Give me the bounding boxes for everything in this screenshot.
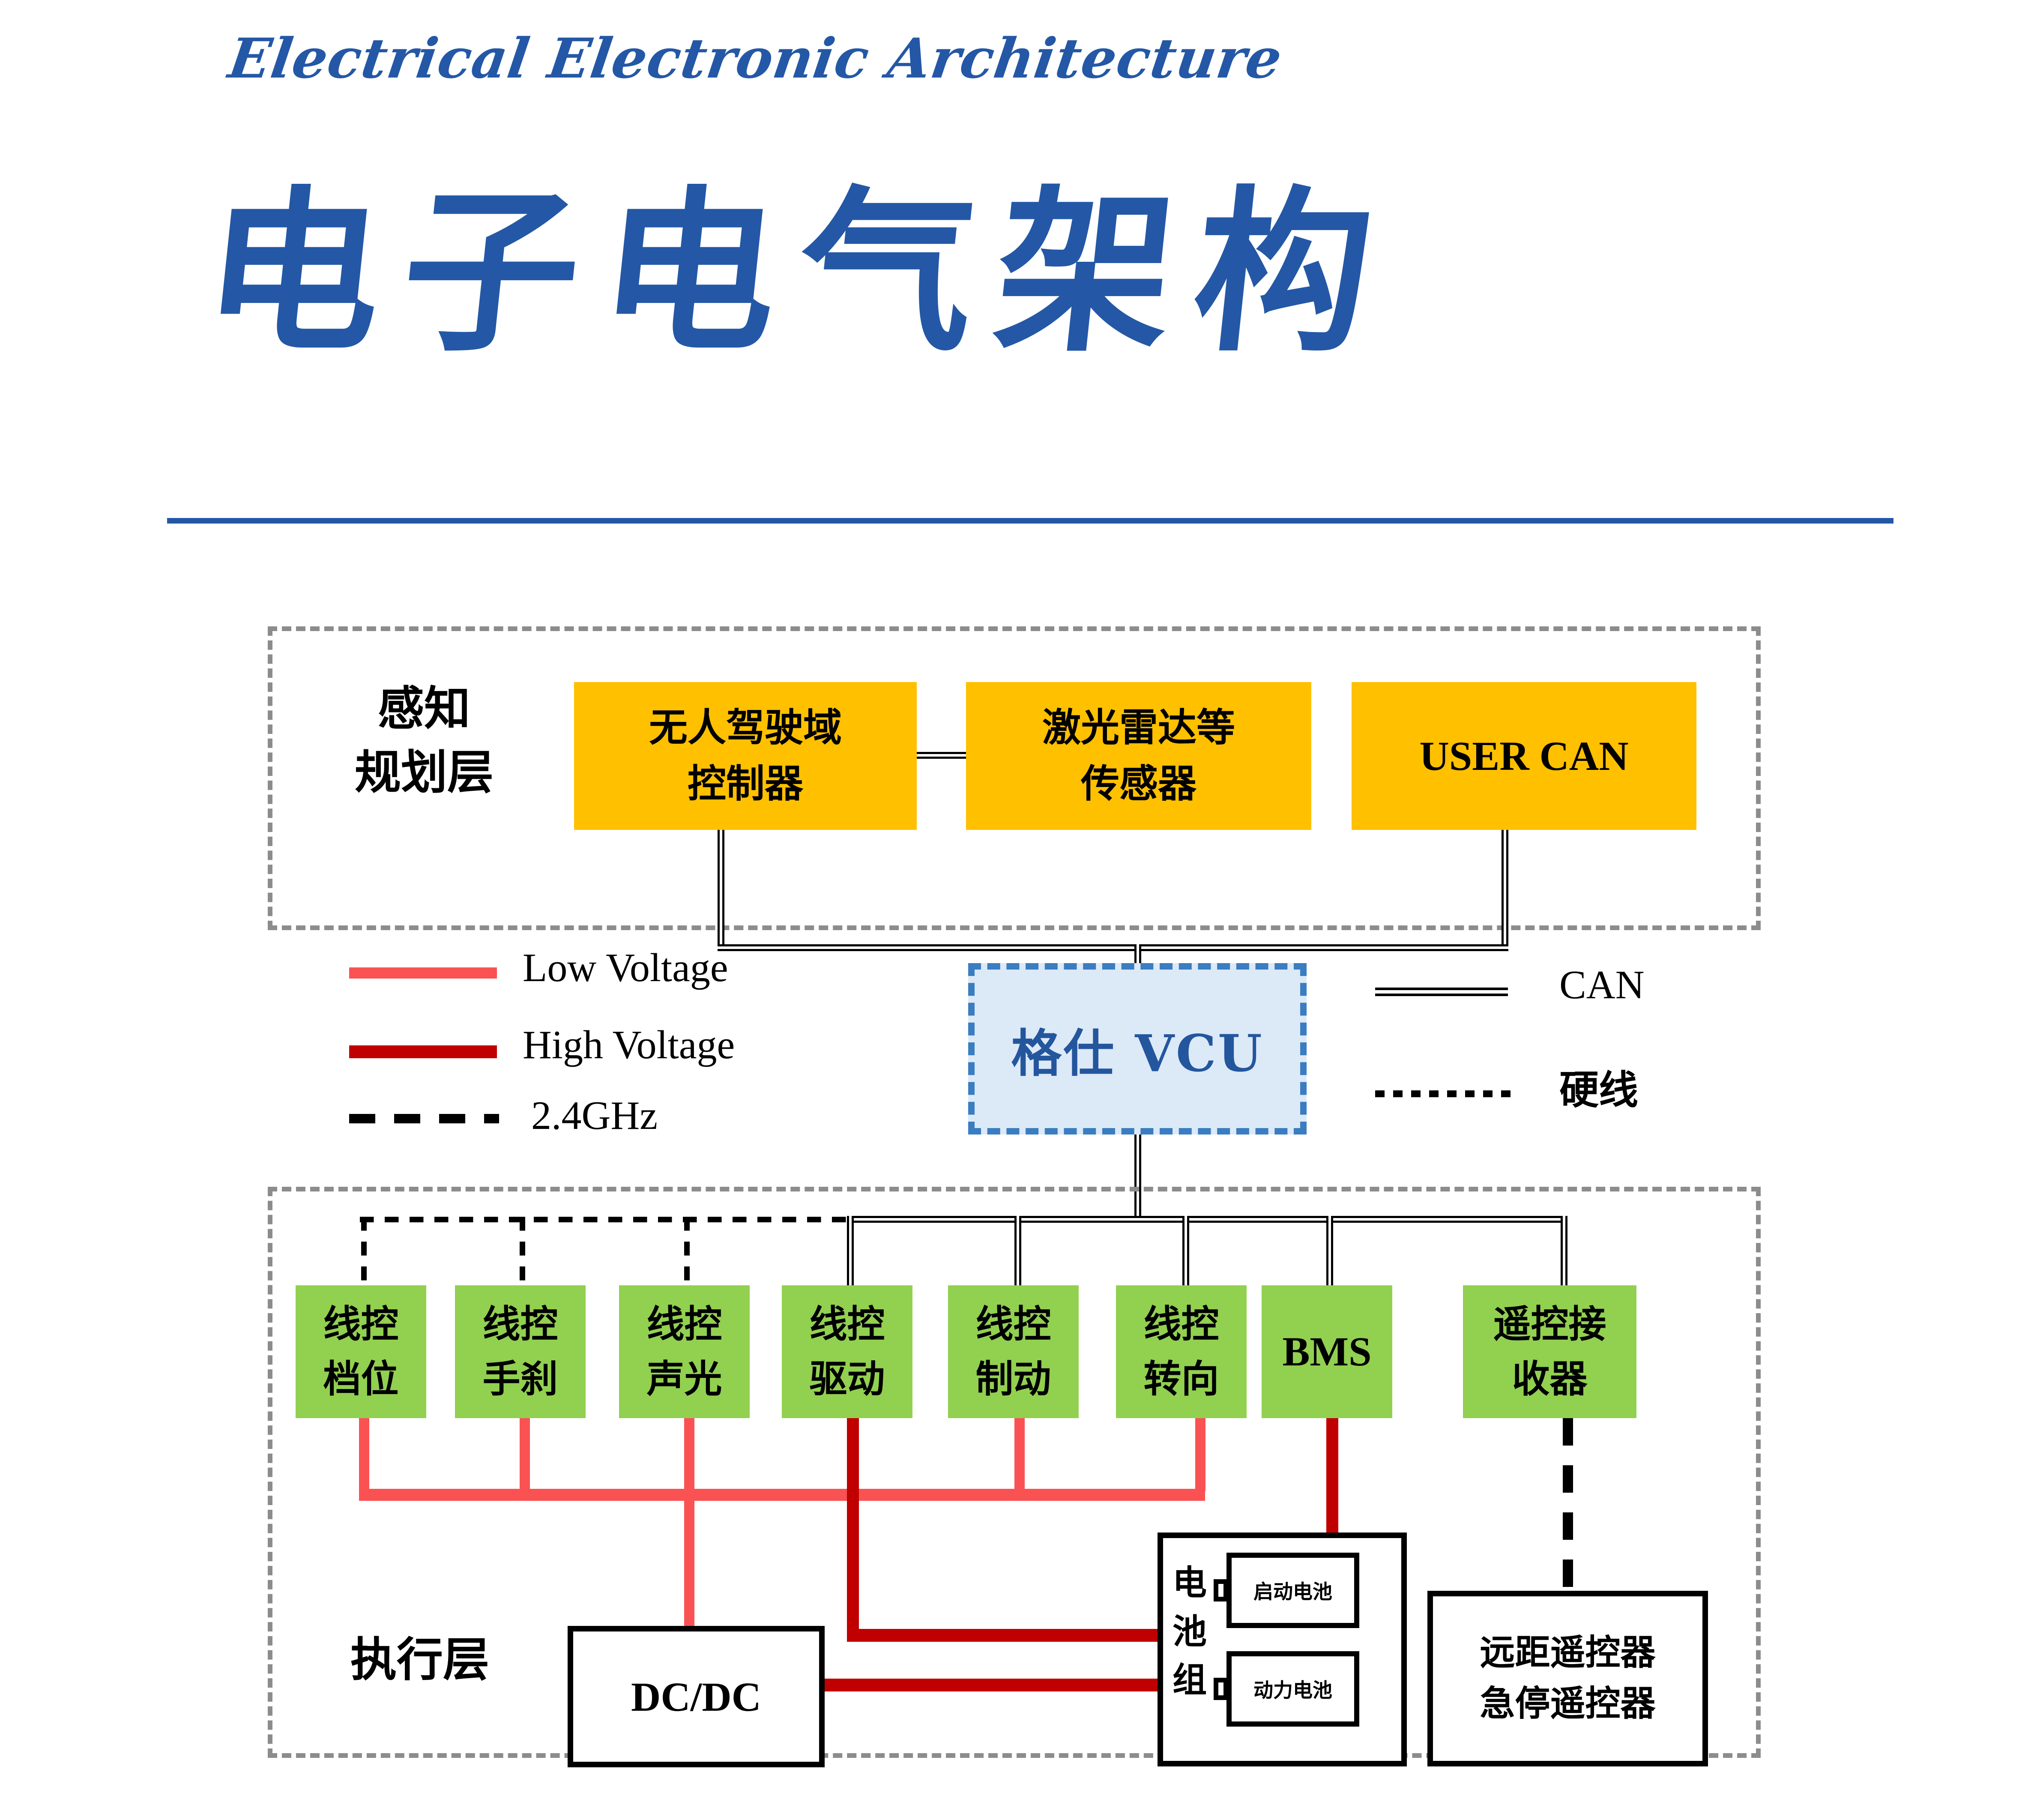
wire-control-gear-line1: 线控 (323, 1297, 398, 1352)
wire-control-gear-line2: 档位 (323, 1352, 398, 1407)
box-dcdc[interactable]: DC/DC (568, 1626, 825, 1767)
box-remote-receiver[interactable]: 遥控接 收器 (1463, 1285, 1636, 1418)
page-title-chinese: 电子电气架构 (196, 184, 1402, 360)
box-starter-battery[interactable]: 启动电池 (1226, 1553, 1359, 1628)
hardwire-drop-sound-light (684, 1217, 690, 1285)
lidar-sensors-line2: 传感器 (1042, 756, 1235, 812)
wire-control-handbrake-line1: 线控 (482, 1297, 558, 1352)
can-link-adas-to-lidar (917, 752, 966, 759)
legend-swatch-hardwire (1375, 1090, 1512, 1097)
legend-label-low-voltage: Low Voltage (523, 945, 728, 991)
can-drop-brake (1014, 1216, 1021, 1285)
adas-domain-controller-line2: 控制器 (649, 756, 842, 812)
lv-drop-sound-light (684, 1418, 694, 1491)
can-bus-execution (847, 1216, 1567, 1223)
box-lidar-sensors[interactable]: 激光雷达等 传感器 (966, 682, 1311, 830)
lv-drop-brake (1014, 1418, 1025, 1491)
lv-drop-handbrake (520, 1418, 530, 1491)
box-battery-pack[interactable]: 电池组 启动电池 动力电池 (1158, 1533, 1407, 1766)
box-wire-control-drive[interactable]: 线控 驱动 (782, 1285, 912, 1418)
remote-controller-line2: 急停遥控器 (1480, 1679, 1655, 1730)
lv-bus-horizontal (359, 1489, 1205, 1501)
can-bus-perception (718, 944, 1508, 951)
legend-swatch-rf-2-4ghz (349, 1114, 499, 1123)
box-bms[interactable]: BMS (1262, 1285, 1392, 1418)
hv-drop-drive (847, 1418, 859, 1641)
title-divider-rule (167, 518, 1893, 524)
box-gshi-vcu[interactable]: 格仕 VCU (968, 963, 1307, 1135)
box-adas-domain-controller[interactable]: 无人驾驶域 控制器 (574, 682, 917, 830)
box-traction-battery[interactable]: 动力电池 (1226, 1651, 1359, 1727)
legend-label-high-voltage: High Voltage (523, 1022, 735, 1068)
hardwire-drop-handbrake (520, 1217, 525, 1285)
box-wire-control-brake[interactable]: 线控 制动 (948, 1285, 1079, 1418)
adas-domain-controller-line1: 无人驾驶域 (649, 700, 842, 756)
hardwire-drop-gear (361, 1217, 367, 1285)
wire-control-drive-line1: 线控 (809, 1297, 885, 1352)
wire-control-sound-light-line1: 线控 (646, 1297, 722, 1352)
lv-drop-steering (1195, 1418, 1205, 1491)
box-remote-controller[interactable]: 远距遥控器 急停遥控器 (1427, 1591, 1708, 1766)
lidar-sensors-line1: 激光雷达等 (1042, 700, 1235, 756)
battery-pack-label: 电池组 (1171, 1559, 1208, 1705)
remote-receiver-line1: 遥控接 (1493, 1297, 1606, 1352)
remote-controller-line1: 远距遥控器 (1480, 1628, 1655, 1679)
remote-receiver-line2: 收器 (1493, 1352, 1606, 1407)
execution-layer-label: 执行层 (330, 1628, 510, 1692)
can-drop-remote-receiver (1561, 1216, 1567, 1285)
legend-swatch-can-bus (1375, 988, 1508, 996)
legend-label-can-bus: CAN (1559, 962, 1644, 1008)
can-drop-adas (718, 830, 724, 951)
box-wire-control-sound-light[interactable]: 线控 声光 (619, 1285, 750, 1418)
box-user-can[interactable]: USER CAN (1352, 682, 1696, 830)
lv-feed-to-dcdc (684, 1489, 694, 1628)
can-drop-bms (1326, 1216, 1333, 1285)
wire-control-steering-line1: 线控 (1143, 1297, 1219, 1352)
legend-label-hardwire: 硬线 (1559, 1058, 1638, 1115)
wire-control-steering-line2: 转向 (1143, 1352, 1219, 1407)
wire-control-drive-line2: 驱动 (809, 1352, 885, 1407)
legend-swatch-high-voltage (349, 1045, 497, 1058)
rf-link-receiver-to-controller (1563, 1418, 1573, 1594)
wire-control-brake-line2: 制动 (975, 1352, 1051, 1407)
vcu-label: 格仕 VCU (1011, 1012, 1263, 1086)
dcdc-label: DC/DC (631, 1673, 761, 1721)
can-drop-user-can (1502, 830, 1508, 951)
traction-battery-terminal-icon (1214, 1678, 1228, 1700)
page-title-english: Electrical Electronic Architecture (224, 27, 1286, 91)
lv-drop-gear (359, 1418, 369, 1491)
perception-label-line2: 规划层 (334, 741, 514, 805)
legend-label-rf-2-4ghz: 2.4GHz (531, 1093, 658, 1139)
perception-label-line1: 感知 (334, 677, 514, 741)
legend-swatch-low-voltage (349, 967, 497, 979)
can-drop-to-vcu (1134, 944, 1141, 966)
hv-drop-bms (1326, 1418, 1338, 1535)
perception-layer-label: 感知 规划层 (334, 677, 514, 805)
can-drop-drive (847, 1216, 854, 1285)
starter-battery-terminal-icon (1214, 1579, 1228, 1601)
traction-battery-label: 动力电池 (1253, 1675, 1332, 1703)
hardwire-bus-execution (360, 1217, 850, 1222)
starter-battery-label: 启动电池 (1253, 1576, 1332, 1604)
hv-dcdc-to-battery (823, 1679, 1165, 1691)
user-can-label: USER CAN (1419, 726, 1628, 786)
bms-label: BMS (1282, 1322, 1371, 1381)
box-wire-control-gear[interactable]: 线控 档位 (296, 1285, 426, 1418)
wire-control-brake-line1: 线控 (975, 1297, 1051, 1352)
wire-control-handbrake-line2: 手刹 (482, 1352, 558, 1407)
hv-drive-to-battery (847, 1629, 1164, 1642)
wire-control-sound-light-line2: 声光 (646, 1352, 722, 1407)
box-wire-control-steering[interactable]: 线控 转向 (1116, 1285, 1247, 1418)
box-wire-control-handbrake[interactable]: 线控 手刹 (455, 1285, 586, 1418)
can-drop-steering (1182, 1216, 1189, 1285)
